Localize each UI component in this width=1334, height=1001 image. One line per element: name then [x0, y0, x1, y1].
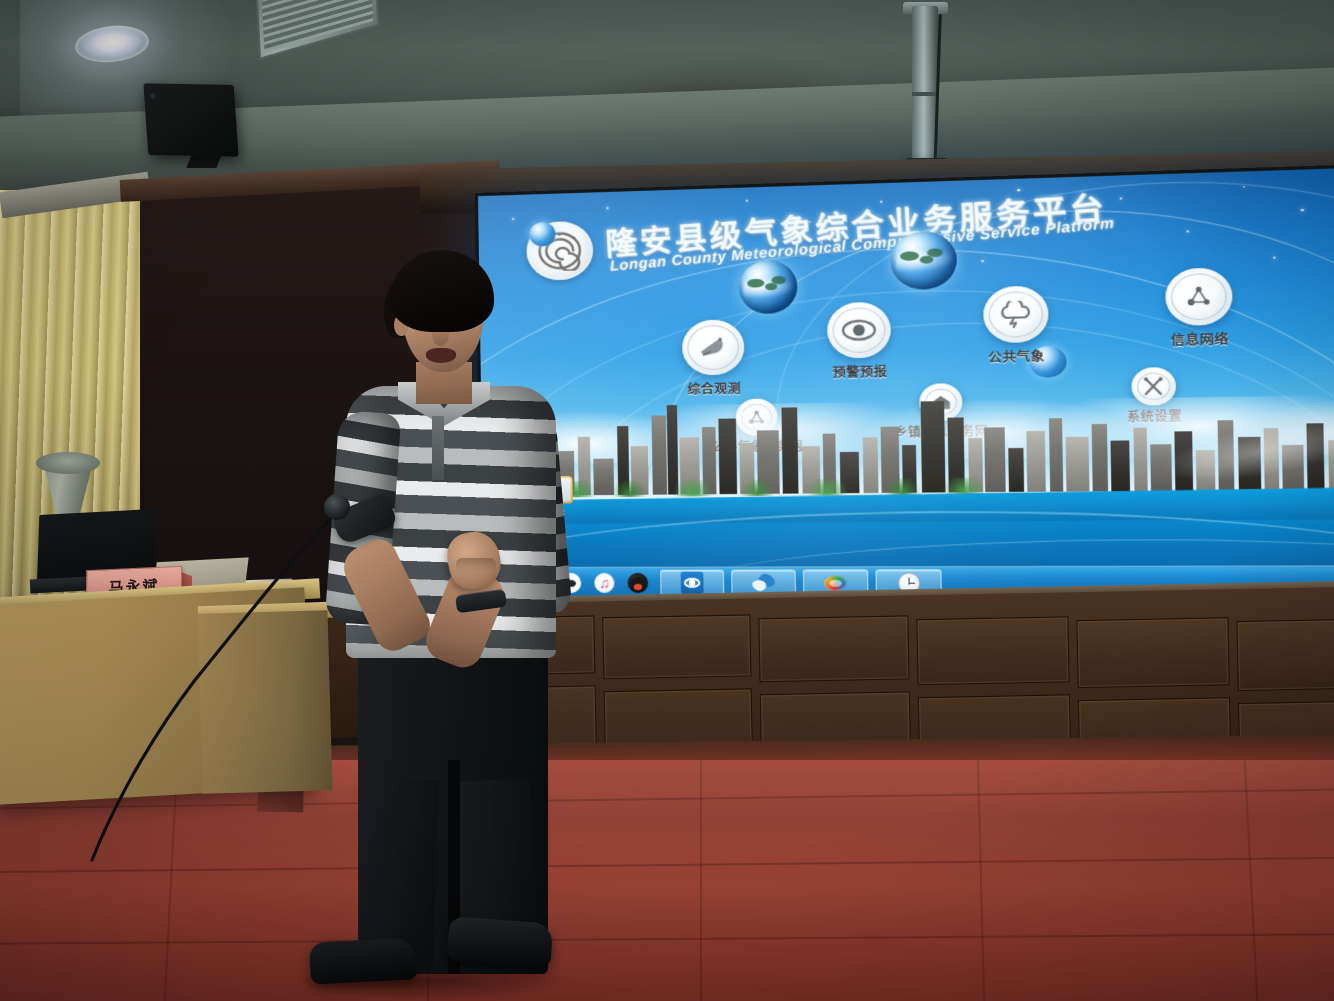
wainscot-panel — [916, 616, 1069, 685]
app-xinxi-wangluo[interactable]: 信息网络 — [1159, 268, 1240, 350]
radar-dish-glyph — [698, 334, 729, 361]
eye-glyph — [841, 318, 877, 341]
app-label: 信息网络 — [1160, 328, 1240, 350]
radar-dish-icon[interactable] — [682, 319, 745, 375]
app-gonggong-qixiang[interactable]: 公共气象 — [977, 285, 1056, 366]
wall-speaker — [143, 83, 238, 156]
eye-icon[interactable] — [827, 302, 891, 359]
city-skyline-graphic — [481, 394, 1334, 526]
vase-mouth — [36, 452, 100, 474]
screenshot-scene: 隆安县级气象综合业务服务平台 Longan County Meteorologi… — [0, 0, 1334, 1001]
presenter-shoe-right — [447, 916, 554, 967]
network-nodes-icon[interactable] — [1165, 268, 1233, 327]
app-label: 综合观测 — [677, 377, 752, 398]
taskbar-pin-qq[interactable] — [622, 570, 653, 596]
qq-penguin-icon[interactable] — [628, 573, 649, 593]
recessed-downlight-icon — [73, 22, 150, 66]
app-zonghe-guance[interactable]: 综合观测 — [676, 319, 751, 398]
desktop-wallpaper: 隆安县级气象综合业务服务平台 Longan County Meteorologi… — [478, 167, 1334, 599]
teamviewer-icon[interactable] — [681, 572, 704, 594]
swoosh-app-icon[interactable] — [752, 574, 775, 592]
cloud-lightning-glyph — [997, 300, 1034, 328]
ceiling-vent-grille — [256, 0, 379, 60]
wrench-screwdriver-glyph — [1142, 376, 1167, 397]
wainscot-panel — [1076, 617, 1229, 688]
presenter-knuckles — [456, 558, 496, 572]
presenter-mouth — [426, 348, 456, 363]
stage-floor — [0, 760, 1334, 1001]
presenter-shoe-left — [309, 937, 417, 984]
cloud-lightning-icon[interactable] — [983, 285, 1049, 343]
microphone-head — [324, 494, 350, 520]
presenter-hair — [390, 250, 494, 332]
app-label: 公共气象 — [978, 345, 1056, 366]
camera-pole-seam — [912, 92, 938, 96]
wainscot-panel — [758, 615, 909, 682]
app-yujing-yubao[interactable]: 预警预报 — [821, 301, 898, 381]
wainscot-panel — [1236, 619, 1334, 691]
network-nodes-glyph — [1182, 283, 1216, 311]
media-oval-icon[interactable] — [824, 575, 847, 590]
led-display-screen[interactable]: 隆安县级气象综合业务服务平台 Longan County Meteorologi… — [478, 167, 1334, 599]
wainscot-panel — [602, 614, 751, 679]
presenter-shirt-placket — [432, 416, 444, 480]
app-label: 预警预报 — [822, 360, 898, 381]
presenter — [280, 240, 600, 960]
